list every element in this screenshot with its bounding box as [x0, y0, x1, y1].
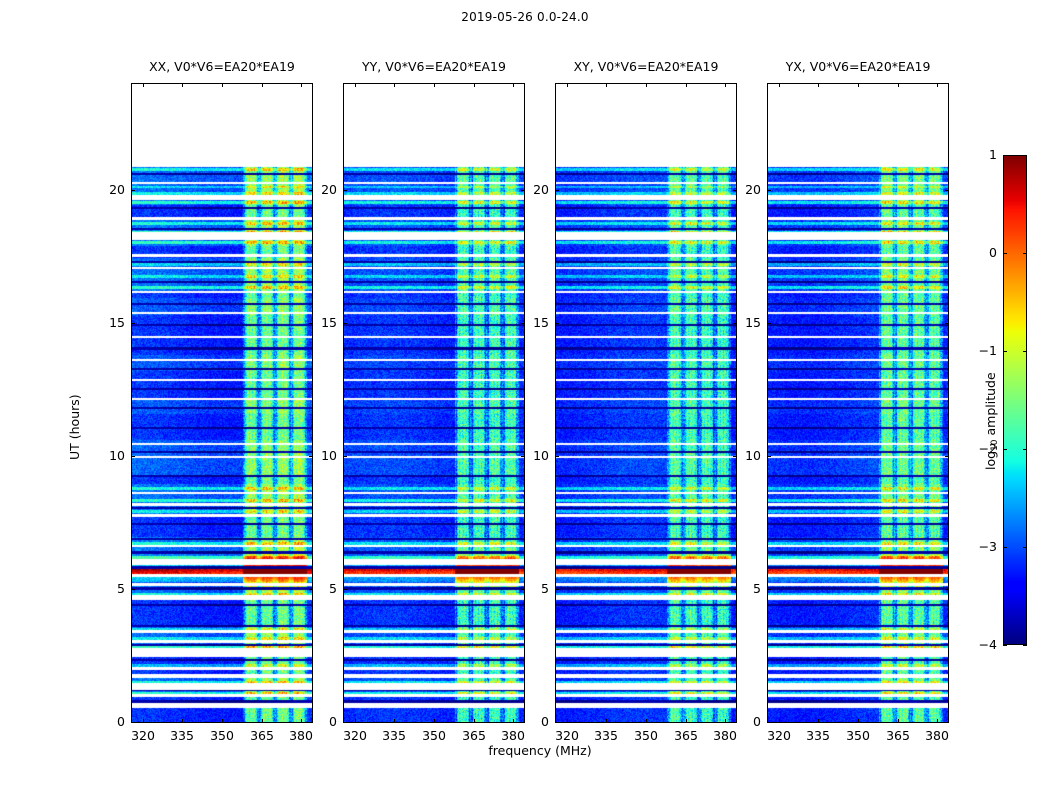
x-tick-top-3-0	[779, 83, 780, 87]
y-tick-1-3	[343, 323, 347, 324]
x-axis-label: frequency (MHz)	[131, 744, 949, 758]
y-tick-0-3	[131, 323, 135, 324]
x-tick-label-2-4: 380	[701, 729, 749, 743]
y-tick-1-2	[343, 456, 347, 457]
colorbar-tick-label-3: −1	[959, 344, 997, 358]
y-tick-right-3-3	[945, 323, 949, 324]
y-tick-label-3-1: 5	[719, 582, 761, 596]
panel-title-xx: XX, V0*V6=EA20*EA19	[131, 60, 313, 74]
y-tick-1-1	[343, 589, 347, 590]
y-tick-label-1-3: 15	[295, 316, 337, 330]
x-tick-1-2	[434, 719, 435, 723]
colorbar-tick-3	[1003, 351, 1007, 352]
x-tick-2-2	[646, 719, 647, 723]
colorbar-tick-0	[1003, 645, 1007, 646]
x-tick-0-1	[182, 719, 183, 723]
y-tick-3-2	[767, 456, 771, 457]
x-tick-top-0-0	[143, 83, 144, 87]
waterfall-panel-xy[interactable]	[555, 83, 737, 723]
colorbar-tick-right-1	[1023, 547, 1027, 548]
x-tick-top-2-2	[646, 83, 647, 87]
x-tick-top-1-1	[394, 83, 395, 87]
y-tick-label-2-4: 20	[507, 183, 549, 197]
x-tick-label-1-4: 380	[489, 729, 537, 743]
y-tick-0-0	[131, 722, 135, 723]
y-tick-2-0	[555, 722, 559, 723]
x-tick-1-1	[394, 719, 395, 723]
waterfall-panel-yy[interactable]	[343, 83, 525, 723]
colorbar-tick-label-0: −4	[959, 638, 997, 652]
y-tick-0-1	[131, 589, 135, 590]
x-tick-top-0-2	[222, 83, 223, 87]
colorbar-label-subscript: 10	[990, 439, 1000, 450]
y-tick-2-4	[555, 190, 559, 191]
y-tick-2-2	[555, 456, 559, 457]
colorbar-tick-5	[1003, 155, 1007, 156]
panel-title-yy: YY, V0*V6=EA20*EA19	[343, 60, 525, 74]
x-tick-3-0	[779, 719, 780, 723]
figure-suptitle: 2019-05-26 0.0-24.0	[0, 10, 1050, 24]
y-tick-label-2-1: 5	[507, 582, 549, 596]
x-tick-top-3-1	[818, 83, 819, 87]
x-tick-2-0	[567, 719, 568, 723]
x-tick-2-3	[686, 719, 687, 723]
y-tick-0-4	[131, 190, 135, 191]
x-tick-3-2	[858, 719, 859, 723]
colorbar-tick-1	[1003, 547, 1007, 548]
y-tick-label-3-2: 10	[719, 449, 761, 463]
y-tick-label-3-3: 15	[719, 316, 761, 330]
x-tick-1-0	[355, 719, 356, 723]
colorbar-label-suffix: amplitude	[983, 372, 998, 439]
panel-title-xy: XY, V0*V6=EA20*EA19	[555, 60, 737, 74]
y-tick-right-3-1	[945, 589, 949, 590]
x-tick-0-3	[262, 719, 263, 723]
colorbar-tick-right-0	[1023, 645, 1027, 646]
x-tick-3-3	[898, 719, 899, 723]
y-tick-label-1-0: 0	[295, 715, 337, 729]
colorbar-tick-right-2	[1023, 449, 1027, 450]
x-tick-top-1-3	[474, 83, 475, 87]
panel-title-yx: YX, V0*V6=EA20*EA19	[767, 60, 949, 74]
y-tick-label-1-2: 10	[295, 449, 337, 463]
x-tick-top-2-1	[606, 83, 607, 87]
x-tick-top-0-4	[301, 83, 302, 87]
y-tick-label-2-3: 15	[507, 316, 549, 330]
y-tick-3-0	[767, 722, 771, 723]
x-tick-label-0-4: 380	[277, 729, 325, 743]
waterfall-panel-yx[interactable]	[767, 83, 949, 723]
y-tick-label-0-0: 0	[83, 715, 125, 729]
y-tick-label-2-2: 10	[507, 449, 549, 463]
x-tick-3-1	[818, 719, 819, 723]
y-tick-2-1	[555, 589, 559, 590]
y-axis-label: UT (hours)	[68, 394, 82, 460]
y-tick-3-3	[767, 323, 771, 324]
y-tick-label-2-0: 0	[507, 715, 549, 729]
y-tick-label-3-0: 0	[719, 715, 761, 729]
y-tick-label-0-1: 5	[83, 582, 125, 596]
colorbar-tick-right-3	[1023, 351, 1027, 352]
x-tick-label-3-4: 380	[913, 729, 961, 743]
y-tick-label-1-1: 5	[295, 582, 337, 596]
colorbar-label-prefix: log	[983, 451, 998, 470]
colorbar-tick-label-5: 1	[959, 148, 997, 162]
colorbar-tick-4	[1003, 253, 1007, 254]
colorbar-tick-right-5	[1023, 155, 1027, 156]
x-tick-top-1-0	[355, 83, 356, 87]
x-tick-top-3-2	[858, 83, 859, 87]
x-tick-top-0-1	[182, 83, 183, 87]
colorbar-tick-right-4	[1023, 253, 1027, 254]
y-tick-0-2	[131, 456, 135, 457]
figure-canvas: 2019-05-26 0.0-24.0 XX, V0*V6=EA20*EA19 …	[0, 0, 1050, 800]
colorbar[interactable]	[1003, 155, 1027, 645]
y-tick-label-0-2: 10	[83, 449, 125, 463]
colorbar-label: log10 amplitude	[984, 372, 1002, 470]
y-tick-3-1	[767, 589, 771, 590]
colorbar-tick-label-1: −3	[959, 540, 997, 554]
x-tick-0-2	[222, 719, 223, 723]
y-tick-3-4	[767, 190, 771, 191]
y-tick-label-3-4: 20	[719, 183, 761, 197]
x-tick-3-4	[937, 719, 938, 723]
y-tick-label-0-3: 15	[83, 316, 125, 330]
x-tick-2-1	[606, 719, 607, 723]
colorbar-tick-2	[1003, 449, 1007, 450]
x-tick-top-2-0	[567, 83, 568, 87]
colorbar-tick-label-4: 0	[959, 246, 997, 260]
waterfall-panel-xx[interactable]	[131, 83, 313, 723]
y-tick-2-3	[555, 323, 559, 324]
y-tick-right-3-4	[945, 190, 949, 191]
x-tick-1-3	[474, 719, 475, 723]
y-tick-label-0-4: 20	[83, 183, 125, 197]
y-tick-1-0	[343, 722, 347, 723]
x-tick-top-1-4	[513, 83, 514, 87]
x-tick-top-3-4	[937, 83, 938, 87]
x-tick-top-0-3	[262, 83, 263, 87]
x-tick-0-0	[143, 719, 144, 723]
y-tick-right-3-2	[945, 456, 949, 457]
x-tick-top-2-3	[686, 83, 687, 87]
x-tick-top-3-3	[898, 83, 899, 87]
y-tick-right-3-0	[945, 722, 949, 723]
y-tick-label-1-4: 20	[295, 183, 337, 197]
x-tick-top-1-2	[434, 83, 435, 87]
y-tick-1-4	[343, 190, 347, 191]
x-tick-top-2-4	[725, 83, 726, 87]
